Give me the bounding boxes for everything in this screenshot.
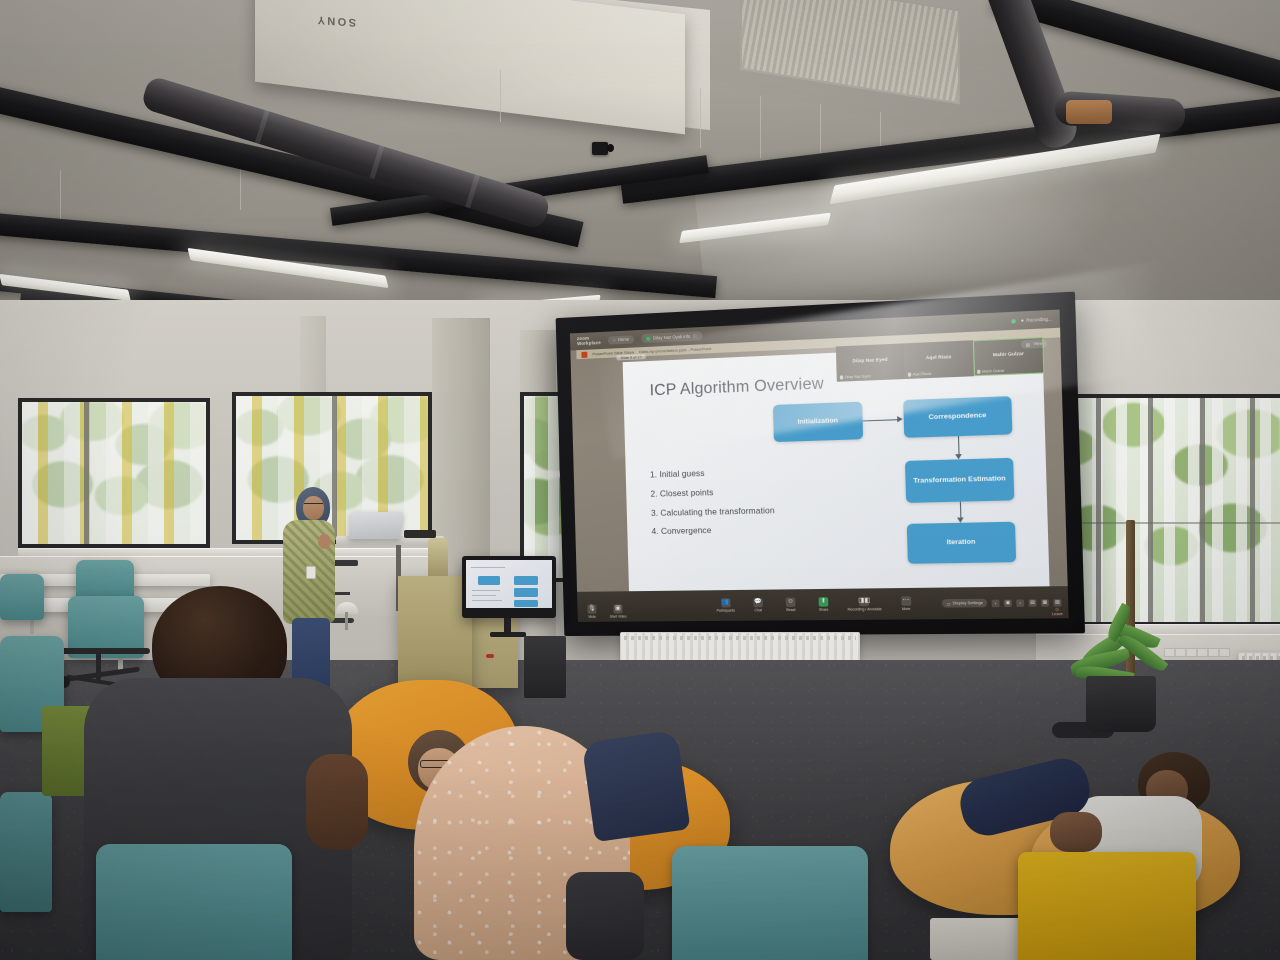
microphone-icon <box>977 370 980 374</box>
flow-arrow-3 <box>960 502 962 519</box>
ceiling-hanger <box>760 96 761 158</box>
status-dot-icon <box>646 336 650 340</box>
recording-indicator[interactable]: ⏺ Recording... <box>1021 316 1052 323</box>
participant-name: Dilay Naz Eyed <box>836 356 904 364</box>
camera-icon: ▣ <box>613 604 622 613</box>
react-button[interactable]: ☺ React <box>782 597 800 612</box>
chat-icon: 💬 <box>753 598 763 607</box>
react-icon: ☺ <box>786 597 796 606</box>
zoom-right-controls[interactable]: ▭ Display Settings ‹ ▣ › ▤ ▦ ▧ <box>942 598 1062 608</box>
chair-yellow[interactable] <box>1018 852 1196 960</box>
zoom-left-controls[interactable]: 🎙 Mute ▣ Start Video <box>583 604 626 619</box>
meeting-info-chip[interactable]: Dilay Naz Oyali info ⓘ <box>641 331 702 343</box>
office-chair-front[interactable] <box>0 792 52 912</box>
layout-option-2[interactable]: ▦ <box>1041 599 1049 607</box>
ceiling-hanger <box>500 70 501 122</box>
microphone-icon: 🎙 <box>587 604 596 613</box>
participant-tag: Mahir Gulzar <box>977 369 1004 374</box>
attendee-legs <box>582 730 691 842</box>
share-icon: ⬆ <box>819 597 829 606</box>
flow-box-transformation-estimation: Transformation Estimation <box>905 458 1014 503</box>
podium-top-column <box>428 538 448 576</box>
presenter-hand <box>318 534 331 549</box>
flow-arrowhead-3 <box>957 517 964 522</box>
lamp-stem <box>345 612 348 630</box>
flow-box-correspondence: Correspondence <box>903 396 1012 438</box>
projection-screen[interactable]: zoom Workplace ⌂ Home Dilay Naz Oyali in… <box>556 292 1085 636</box>
ac-grille <box>740 0 960 104</box>
wall-sockets-right <box>1164 648 1230 657</box>
next-slide-button[interactable]: › <box>1016 599 1024 607</box>
attendee-arm <box>306 754 368 850</box>
leave-meeting-button[interactable]: ⏻ Leave <box>1052 608 1063 617</box>
chair-foreground[interactable] <box>672 846 868 960</box>
layout-option-3[interactable]: ▧ <box>1053 599 1061 607</box>
flow-box-initialization: Initialization <box>773 402 863 442</box>
confidence-monitor-screen <box>466 560 552 608</box>
prev-slide-button[interactable]: ‹ <box>992 599 1000 607</box>
chat-button[interactable]: 💬 Chat <box>749 598 767 613</box>
participants-button[interactable]: 👥 Participants <box>716 598 735 613</box>
laptop[interactable] <box>349 512 404 539</box>
display-icon: ▭ <box>946 601 950 606</box>
microphone-icon <box>840 375 843 379</box>
share-screen-button[interactable]: ⬆ Share <box>814 597 833 612</box>
slide-title: ICP Algorithm Overview <box>649 375 824 400</box>
info-icon[interactable]: ⓘ <box>693 333 697 339</box>
plant-pot <box>1086 676 1156 732</box>
cable-connector <box>486 654 494 658</box>
attendee-hands <box>1050 812 1102 852</box>
flow-arrow-2 <box>958 436 960 455</box>
annotate-icon: ◨◧ <box>859 597 869 606</box>
view-button[interactable]: ▥ View <box>1021 339 1047 349</box>
office-chair[interactable] <box>0 574 44 620</box>
participant-name: Mahir Gulzar <box>973 350 1044 358</box>
participant-name: Aqel Riaza <box>904 353 973 361</box>
slide-bullet-list: 1. Initial guess 2. Closest points 3. Ca… <box>650 463 776 543</box>
window-left-1 <box>18 398 210 548</box>
participant-tile[interactable]: Aqel Riaza Aqel Riaza <box>904 340 974 379</box>
screen-surface: zoom Workplace ⌂ Home Dilay Naz Oyali in… <box>570 310 1069 622</box>
attendee-sleeve <box>566 872 644 960</box>
bullet-item: 3. Calculating the transformation <box>651 501 775 523</box>
duct-copper-band <box>1066 100 1112 124</box>
room-photo-scene: SONY <box>0 0 1280 960</box>
share-bar-file: Dilek-rtp-presentation.pptx - PowerPoint <box>639 346 712 354</box>
start-video-button[interactable]: ▣ Start Video <box>609 604 626 619</box>
home-icon: ⌂ <box>613 337 616 342</box>
flow-box-iteration: Iteration <box>907 522 1016 564</box>
home-tab[interactable]: ⌂ Home <box>608 335 635 344</box>
security-camera-icon <box>592 142 608 155</box>
flow-arrow-1 <box>863 419 899 421</box>
more-icon: ⋯ <box>901 596 911 606</box>
recording-group: ⏺ Recording... <box>1011 316 1052 323</box>
microphone-icon <box>908 372 911 376</box>
bullet-item: 4. Convergence <box>651 521 775 543</box>
slide-counter: Slide 5 of 17 <box>616 354 645 360</box>
mute-button[interactable]: 🎙 Mute <box>583 604 600 619</box>
presenter-face <box>303 496 324 520</box>
participant-tag: Dilay Naz Eyed <box>840 374 871 379</box>
grid-view-icon: ▥ <box>1026 341 1030 347</box>
participant-tag: Aqel Riaza <box>908 372 932 377</box>
layout-option-1[interactable]: ▤ <box>1028 599 1036 607</box>
zoom-logo: zoom Workplace <box>577 336 601 346</box>
confidence-monitor[interactable] <box>462 556 556 618</box>
lanyard-badge <box>306 566 316 579</box>
zoom-bottom-toolbar[interactable]: 🎙 Mute ▣ Start Video 👥 Participants 💬 Ch… <box>577 586 1069 622</box>
glasses-icon <box>304 503 323 507</box>
ceiling-hanger <box>700 88 701 148</box>
chair-foreground[interactable] <box>96 844 292 960</box>
desk-accessory <box>404 530 436 538</box>
chair-base <box>60 648 150 654</box>
record-icon: ⏺ <box>1021 318 1024 323</box>
monitor-base <box>490 632 526 637</box>
flow-arrowhead-1 <box>897 416 903 422</box>
powerpoint-icon <box>581 351 587 357</box>
people-icon: 👥 <box>721 598 731 607</box>
av-cabinet <box>524 636 566 698</box>
display-settings-button[interactable]: ▭ Display Settings <box>942 599 987 608</box>
flow-arrowhead-2 <box>955 454 962 459</box>
participant-tile[interactable]: Dilay Naz Eyed Dilay Naz Eyed <box>836 343 905 381</box>
annotate-button[interactable]: ◨◧ Recording / Annotate <box>847 596 882 611</box>
more-options-button[interactable]: ⋯ More <box>897 596 916 611</box>
podium-side <box>398 576 472 694</box>
network-status-icon <box>1011 319 1016 323</box>
slide-indicator: ▣ <box>1004 599 1012 607</box>
